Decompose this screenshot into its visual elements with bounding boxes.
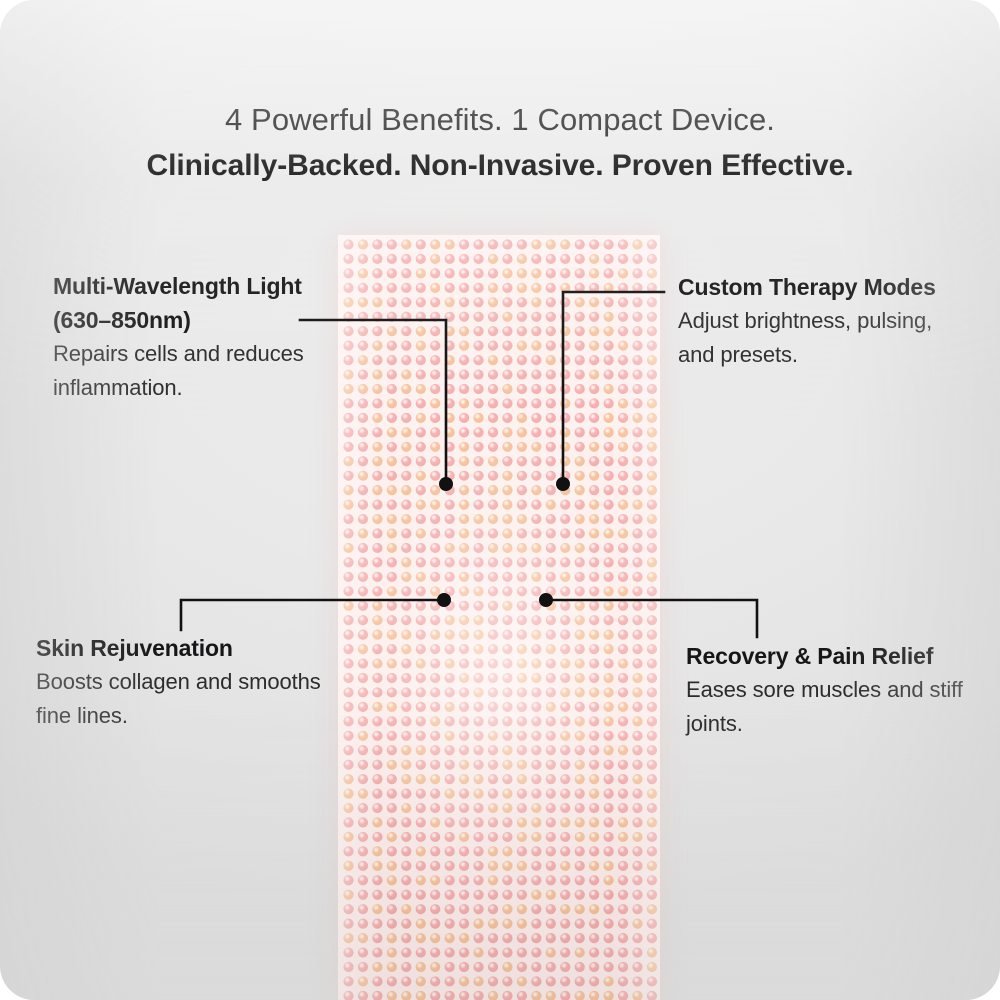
benefit-title-multi-wavelength: Multi-Wavelength Light (630–850nm) [53, 269, 315, 337]
benefit-callout-recovery: Recovery & Pain Relief Eases sore muscle… [686, 639, 986, 741]
benefit-callout-custom-modes: Custom Therapy Modes Adjust brightness, … [678, 270, 958, 372]
headline-block: 4 Powerful Benefits. 1 Compact Device. C… [0, 98, 1000, 188]
benefit-title-skin-rejuvenation: Skin Rejuvenation [36, 631, 326, 665]
benefit-description-skin-rejuvenation: Boosts collagen and smooths fine lines. [36, 665, 326, 733]
benefit-title-recovery: Recovery & Pain Relief [686, 639, 986, 673]
headline-line-2: Clinically-Backed. Non-Invasive. Proven … [0, 144, 1000, 188]
benefit-description-multi-wavelength: Repairs cells and reduces inflammation. [53, 337, 315, 405]
benefit-description-recovery: Eases sore muscles and stiff joints. [686, 673, 986, 741]
led-therapy-panel [338, 235, 660, 1000]
headline-line-1: 4 Powerful Benefits. 1 Compact Device. [0, 98, 1000, 142]
infographic-canvas: 4 Powerful Benefits. 1 Compact Device. C… [0, 0, 1000, 1000]
benefit-callout-skin-rejuvenation: Skin Rejuvenation Boosts collagen and sm… [36, 631, 326, 733]
benefit-description-custom-modes: Adjust brightness, pulsing, and presets. [678, 304, 958, 372]
benefit-title-custom-modes: Custom Therapy Modes [678, 270, 958, 304]
led-dot-grid [338, 235, 660, 1000]
benefit-callout-multi-wavelength: Multi-Wavelength Light (630–850nm) Repai… [53, 269, 315, 405]
